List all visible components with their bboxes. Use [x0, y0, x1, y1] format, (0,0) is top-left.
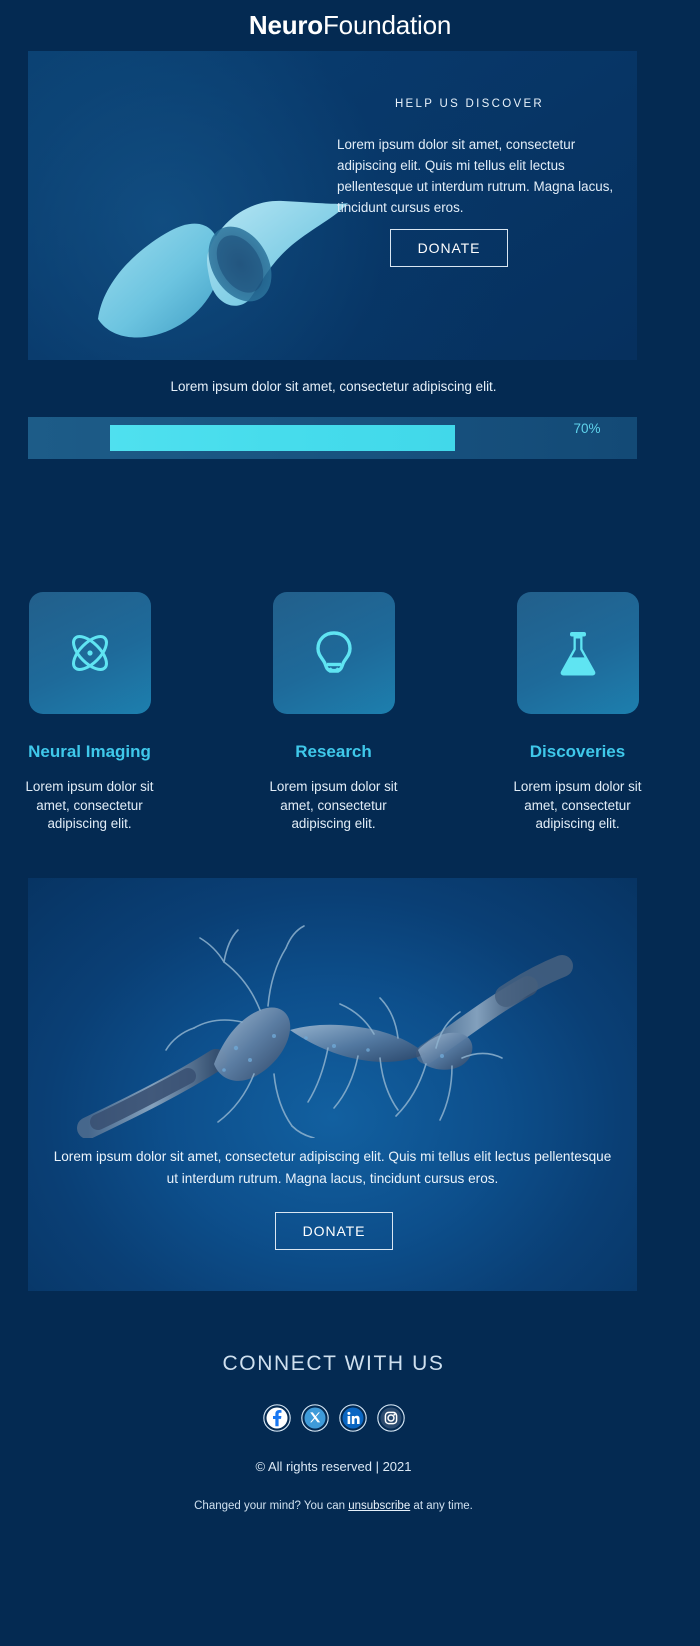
- hero-content: HELP US DISCOVER Lorem ipsum dolor sit a…: [337, 51, 637, 360]
- banner-donate-button[interactable]: DONATE: [275, 1212, 393, 1250]
- feature-description: Lorem ipsum dolor sit amet, consectetur …: [497, 778, 659, 834]
- feature-description: Lorem ipsum dolor sit amet, consectetur …: [9, 778, 171, 834]
- facebook-icon[interactable]: [263, 1404, 291, 1432]
- unsubscribe-prefix: Changed your mind? You can: [194, 1500, 348, 1512]
- feature-card-research: Research Lorem ipsum dolor sit amet, con…: [253, 592, 415, 842]
- brand-header: NeuroFoundation: [0, 0, 700, 51]
- feature-icon-tile: [29, 592, 151, 714]
- unsubscribe-link[interactable]: unsubscribe: [348, 1500, 410, 1512]
- hero-eyebrow: HELP US DISCOVER: [337, 98, 602, 110]
- hero-section: HELP US DISCOVER Lorem ipsum dolor sit a…: [28, 51, 637, 360]
- unsubscribe-line: Changed your mind? You can unsubscribe a…: [0, 1500, 667, 1512]
- atom-icon: [62, 625, 118, 681]
- hero-body-text: Lorem ipsum dolor sit amet, consectetur …: [337, 134, 621, 218]
- feature-icon-tile: [517, 592, 639, 714]
- feature-title: Neural Imaging: [9, 742, 171, 762]
- feature-icon-tile: [273, 592, 395, 714]
- brand-name-bold: Neuro: [249, 10, 323, 40]
- copyright-text: © All rights reserved | 2021: [0, 1459, 667, 1474]
- lightbulb-icon: [306, 625, 362, 681]
- instagram-icon[interactable]: [377, 1404, 405, 1432]
- social-links: [0, 1404, 667, 1432]
- feature-card-neural-imaging: Neural Imaging Lorem ipsum dolor sit ame…: [9, 592, 171, 842]
- brand-name-light: Foundation: [323, 10, 451, 40]
- flask-icon: [550, 625, 606, 681]
- neuron-banner-section: Lorem ipsum dolor sit amet, consectetur …: [28, 878, 637, 1291]
- brand-title: NeuroFoundation: [249, 10, 451, 41]
- synapse-illustration: [68, 161, 358, 356]
- unsubscribe-suffix: at any time.: [410, 1500, 473, 1512]
- email-page: NeuroFoundation: [0, 0, 700, 1646]
- features-section: Neural Imaging Lorem ipsum dolor sit ame…: [0, 592, 667, 842]
- x-twitter-icon[interactable]: [301, 1404, 329, 1432]
- neuron-illustration: [28, 878, 637, 1138]
- banner-body-text: Lorem ipsum dolor sit amet, consectetur …: [52, 1146, 613, 1190]
- hero-donate-button[interactable]: DONATE: [390, 229, 508, 267]
- linkedin-icon[interactable]: [339, 1404, 367, 1432]
- feature-title: Discoveries: [497, 742, 659, 762]
- progress-percent-label: 70%: [556, 421, 618, 436]
- progress-caption: Lorem ipsum dolor sit amet, consectetur …: [0, 379, 667, 394]
- feature-card-discoveries: Discoveries Lorem ipsum dolor sit amet, …: [497, 592, 659, 842]
- connect-with-us-title: CONNECT WITH US: [0, 1330, 667, 1376]
- feature-description: Lorem ipsum dolor sit amet, consectetur …: [253, 778, 415, 834]
- progress-fill: [110, 425, 455, 451]
- feature-title: Research: [253, 742, 415, 762]
- footer-section: CONNECT WITH US: [0, 1330, 667, 1610]
